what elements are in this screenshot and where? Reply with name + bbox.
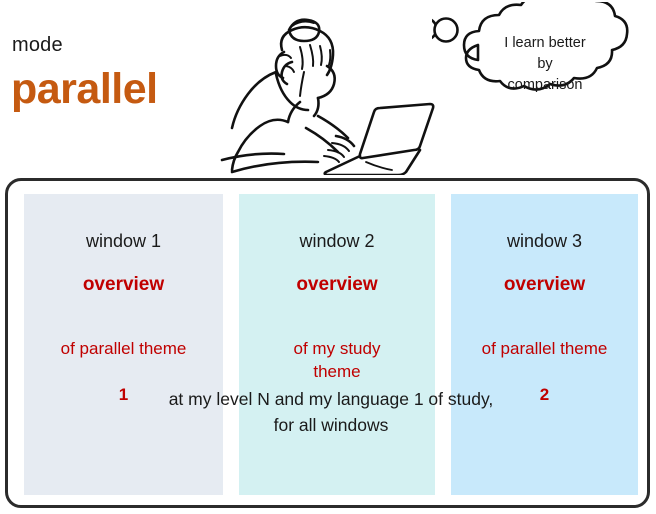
window-panel-3-description: of parallel theme 2 <box>451 314 638 406</box>
window-panel-1-description: of parallel theme 1 <box>24 314 223 406</box>
page-title: parallel <box>11 68 158 111</box>
window-panel-1[interactable]: window 1 overview of parallel theme 1 <box>24 194 223 495</box>
window-panel-1-number: 1 <box>119 385 128 404</box>
window-panel-3-desc-text: of parallel theme <box>482 339 608 358</box>
window-panel-3[interactable]: window 3 overview of parallel theme 2 <box>451 194 638 495</box>
window-panel-1-title: window 1 <box>24 231 223 252</box>
window-panel-3-title: window 3 <box>451 231 638 252</box>
window-panel-2-desc-text: of my study theme <box>294 339 381 381</box>
windows-container: window 1 overview of parallel theme 1 wi… <box>5 178 650 508</box>
window-panel-2-overview: overview <box>239 274 435 296</box>
window-panel-3-number: 2 <box>540 385 549 404</box>
window-panel-1-overview: overview <box>24 274 223 296</box>
window-panel-3-overview: overview <box>451 274 638 296</box>
mode-label: mode <box>12 34 63 57</box>
window-panel-2-title: window 2 <box>239 231 435 252</box>
person-at-laptop-illustration <box>214 0 450 175</box>
header-area: mode parallel <box>0 0 656 175</box>
thought-bubble-text: I learn better by comparison <box>472 33 618 96</box>
window-panel-2[interactable]: window 2 overview of my study theme <box>239 194 435 495</box>
window-panel-2-description: of my study theme <box>239 314 435 383</box>
window-panel-1-desc-text: of parallel theme <box>61 339 187 358</box>
